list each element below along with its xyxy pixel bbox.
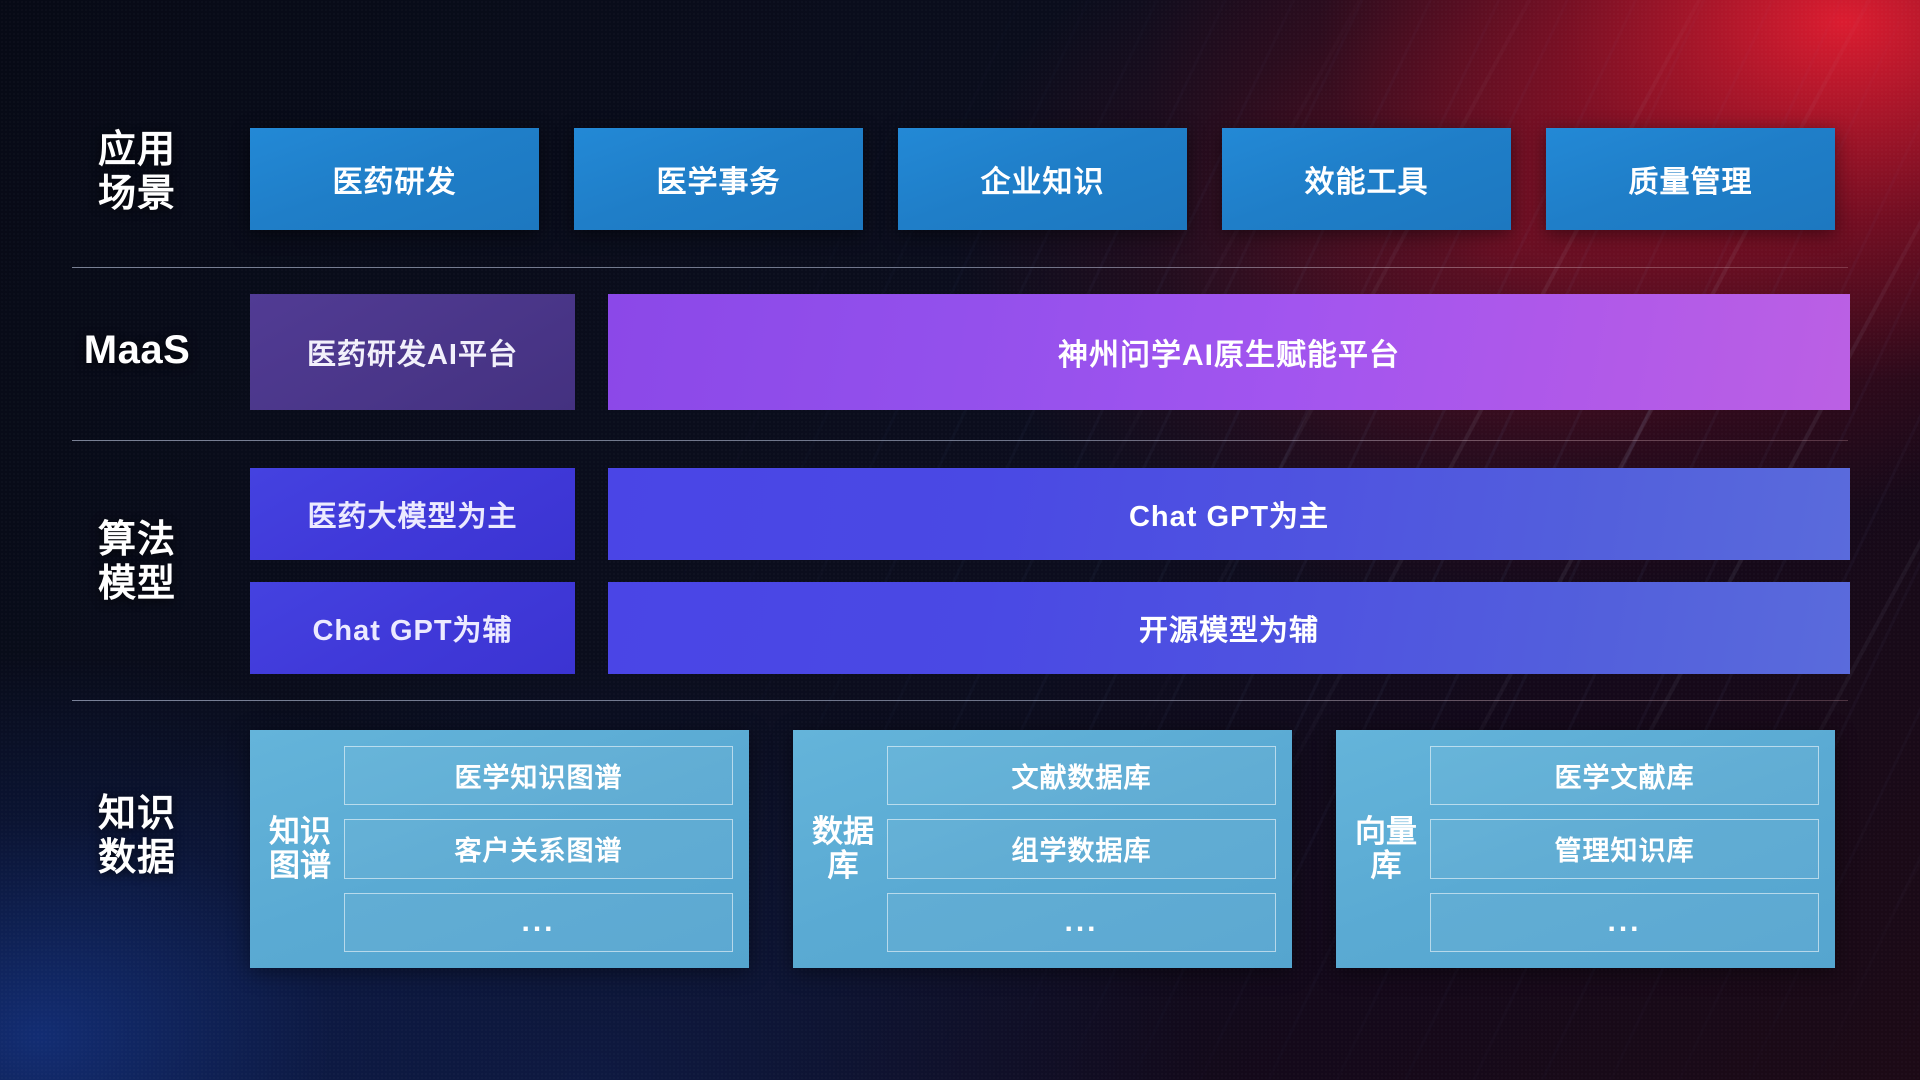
algorithm-box-list: 医药大模型为主 Chat GPT为主 Chat GPT为辅 开源模型为辅 [250,468,1850,674]
knowledge-group-vertical-label: 数据库 [811,746,875,952]
knowledge-item-customer-relation-graph[interactable]: 客户关系图谱 [344,819,733,878]
row-label-text: MaaS [72,327,202,373]
diagram-canvas: 应用 场景 医药研发 医学事务 企业知识 效能工具 质量管理 [0,0,1920,1080]
row-label-line-2: 模型 [72,562,202,606]
row-label-line-1: 知识 [72,792,202,836]
row-label-line-2: 场景 [72,172,202,216]
application-box-quality-management[interactable]: 质量管理 [1546,128,1835,230]
knowledge-item-more[interactable]: ... [1430,893,1819,952]
knowledge-item-list: 文献数据库 组学数据库 ... [875,746,1276,952]
knowledge-item-list: 医学知识图谱 客户关系图谱 ... [332,746,733,952]
knowledge-item-omics-database[interactable]: 组学数据库 [887,819,1276,878]
row-label-maas: MaaS [72,327,202,373]
row-label-line-2: 数据 [72,836,202,880]
knowledge-item-medical-knowledge-graph[interactable]: 医学知识图谱 [344,746,733,805]
maas-box-label: 神州问学AI原生赋能平台 [1058,330,1400,374]
application-box-label: 企业知识 [981,157,1105,201]
algorithm-row-secondary: Chat GPT为辅 开源模型为辅 [250,582,1850,674]
knowledge-item-label: 组学数据库 [1012,829,1152,868]
knowledge-item-more[interactable]: ... [887,893,1276,952]
algorithm-box-chatgpt-primary[interactable]: Chat GPT为主 [608,468,1850,560]
knowledge-group-vertical-label: 向量库 [1354,746,1418,952]
knowledge-item-label: 管理知识库 [1555,829,1695,868]
application-box-enterprise-knowledge[interactable]: 企业知识 [898,128,1187,230]
knowledge-item-literature-database[interactable]: 文献数据库 [887,746,1276,805]
algorithm-row-primary: 医药大模型为主 Chat GPT为主 [250,468,1850,560]
knowledge-item-label: 客户关系图谱 [455,829,623,868]
knowledge-group-vertical-label: 知识图谱 [268,746,332,952]
application-box-label: 效能工具 [1305,157,1429,201]
knowledge-item-medical-literature-store[interactable]: 医学文献库 [1430,746,1819,805]
algorithm-box-label: Chat GPT为主 [1129,493,1329,535]
maas-box-list: 医药研发AI平台 神州问学AI原生赋能平台 [250,294,1850,410]
diagram-content: 应用 场景 医药研发 医学事务 企业知识 效能工具 质量管理 [0,0,1920,1080]
divider-application-maas [72,267,1848,268]
knowledge-item-list: 医学文献库 管理知识库 ... [1418,746,1819,952]
knowledge-group-list: 知识图谱 医学知识图谱 客户关系图谱 ... [250,730,1835,968]
row-label-application-scenarios: 应用 场景 [72,128,202,216]
knowledge-item-more[interactable]: ... [344,893,733,952]
maas-box-label: 医药研发AI平台 [307,331,518,373]
maas-box-shenzhou-wenxue-platform[interactable]: 神州问学AI原生赋能平台 [608,294,1850,410]
application-box-medical-rd[interactable]: 医药研发 [250,128,539,230]
application-box-label: 医药研发 [333,157,457,201]
knowledge-item-label: ... [521,905,555,939]
algorithm-box-medical-llm-primary[interactable]: 医药大模型为主 [250,468,575,560]
row-label-knowledge-data: 知识 数据 [72,792,202,880]
algorithm-box-label: 开源模型为辅 [1139,607,1319,649]
row-label-line-1: 应用 [72,128,202,172]
row-label-line-1: 算法 [72,518,202,562]
algorithm-box-label: Chat GPT为辅 [312,607,512,649]
algorithm-box-opensource-secondary[interactable]: 开源模型为辅 [608,582,1850,674]
knowledge-item-label: ... [1607,905,1641,939]
knowledge-item-label: ... [1064,905,1098,939]
application-box-list: 医药研发 医学事务 企业知识 效能工具 质量管理 [250,128,1835,230]
knowledge-item-label: 医学文献库 [1555,756,1695,795]
application-box-label: 医学事务 [657,157,781,201]
divider-maas-algorithm [72,440,1848,441]
knowledge-item-label: 文献数据库 [1012,756,1152,795]
knowledge-group-vector-store: 向量库 医学文献库 管理知识库 ... [1336,730,1835,968]
application-box-label: 质量管理 [1629,157,1753,201]
algorithm-box-chatgpt-secondary[interactable]: Chat GPT为辅 [250,582,575,674]
application-box-efficiency-tools[interactable]: 效能工具 [1222,128,1511,230]
divider-algorithm-knowledge [72,700,1848,701]
algorithm-box-label: 医药大模型为主 [307,493,517,535]
knowledge-group-database: 数据库 文献数据库 组学数据库 ... [793,730,1292,968]
row-label-algorithm-models: 算法 模型 [72,518,202,606]
maas-box-medical-rd-ai-platform[interactable]: 医药研发AI平台 [250,294,575,410]
application-box-medical-affairs[interactable]: 医学事务 [574,128,863,230]
knowledge-group-knowledge-graph: 知识图谱 医学知识图谱 客户关系图谱 ... [250,730,749,968]
knowledge-item-label: 医学知识图谱 [455,756,623,795]
knowledge-item-management-knowledge-store[interactable]: 管理知识库 [1430,819,1819,878]
